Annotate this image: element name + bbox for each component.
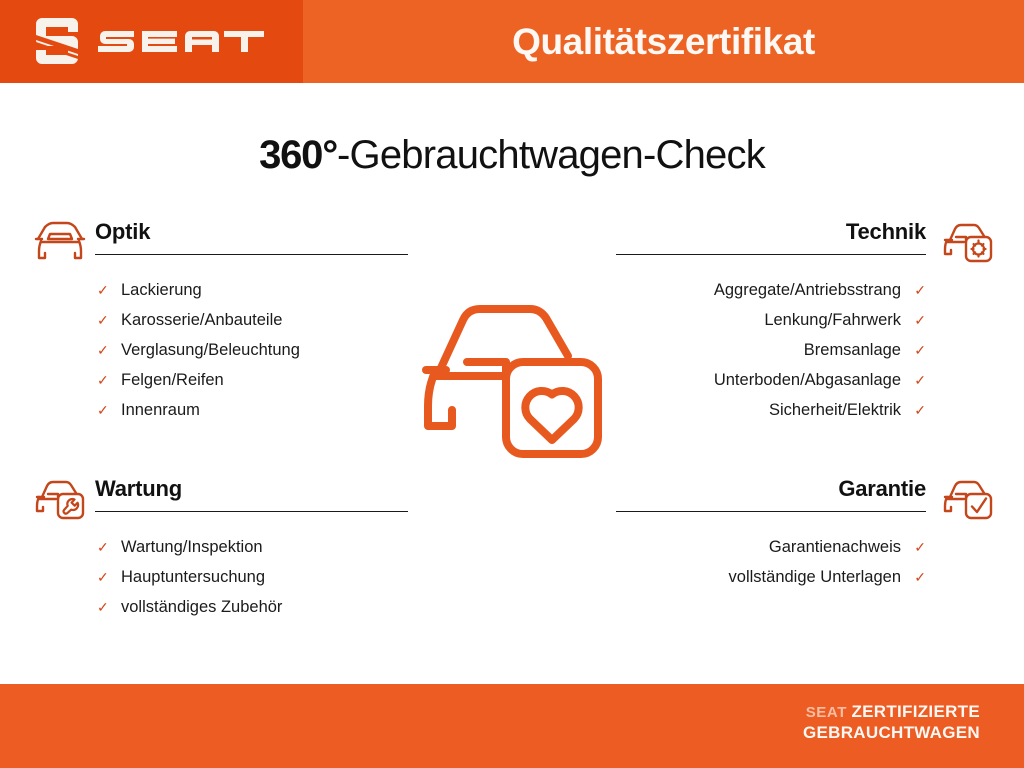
list-item: ✓Wartung/Inspektion (40, 532, 408, 562)
list-item: ✓Unterboden/Abgasanlage (616, 365, 984, 395)
list-item: ✓Garantienachweis (616, 532, 984, 562)
page-title: 360°-Gebrauchtwagen-Check (0, 133, 1024, 178)
seat-s-logo-icon (32, 15, 82, 67)
car-front-icon (32, 220, 88, 266)
list-item-label: Unterboden/Abgasanlage (714, 365, 901, 395)
check-icon: ✓ (97, 540, 113, 554)
check-icon: ✓ (910, 343, 926, 357)
car-gear-icon (940, 220, 996, 266)
list-item-label: Bremsanlage (804, 335, 901, 365)
list-item: ✓Bremsanlage (616, 335, 984, 365)
list-item-label: Hauptuntersuchung (121, 562, 265, 592)
section-wartung-header: Wartung (40, 475, 408, 525)
check-icon: ✓ (910, 313, 926, 327)
list-item: ✓Karosserie/Anbauteile (40, 305, 408, 335)
check-icon: ✓ (910, 373, 926, 387)
check-icon: ✓ (97, 313, 113, 327)
section-technik-list: ✓Aggregate/Antriebsstrang ✓Lenkung/Fahrw… (616, 275, 984, 425)
list-item-label: Verglasung/Beleuchtung (121, 335, 300, 365)
page-title-rest: -Gebrauchtwagen-Check (337, 133, 765, 177)
check-icon: ✓ (97, 343, 113, 357)
section-optik-rule (95, 254, 408, 255)
list-item: ✓Innenraum (40, 395, 408, 425)
section-garantie: Garantie ✓Garantienachweis ✓vollständige… (616, 475, 984, 592)
section-technik-rule (616, 254, 926, 255)
car-heart-icon (418, 298, 610, 470)
section-optik-title: Optik (95, 218, 150, 246)
section-optik: Optik ✓Lackierung ✓Karosserie/Anbauteile… (40, 218, 408, 425)
list-item: ✓Felgen/Reifen (40, 365, 408, 395)
footer-zertifizierte-label: ZERTIFIZIERTE (851, 702, 980, 721)
list-item-label: Felgen/Reifen (121, 365, 224, 395)
list-item-label: Lenkung/Fahrwerk (764, 305, 901, 335)
list-item-label: Lackierung (121, 275, 202, 305)
section-wartung-list: ✓Wartung/Inspektion ✓Hauptuntersuchung ✓… (40, 532, 408, 622)
section-wartung: Wartung ✓Wartung/Inspektion ✓Hauptunters… (40, 475, 408, 622)
section-technik-title: Technik (846, 218, 926, 246)
list-item: ✓Aggregate/Antriebsstrang (616, 275, 984, 305)
section-optik-list: ✓Lackierung ✓Karosserie/Anbauteile ✓Verg… (40, 275, 408, 425)
list-item-label: Garantienachweis (769, 532, 901, 562)
list-item: ✓Verglasung/Beleuchtung (40, 335, 408, 365)
check-icon: ✓ (97, 373, 113, 387)
qualitaetszertifikat-page: Qualitätszertifikat 360°-Gebrauchtwagen-… (0, 0, 1024, 768)
footer-gebrauchtwagen-label: GEBRAUCHTWAGEN (803, 723, 980, 743)
footer-brand-block: SEAT ZERTIFIZIERTE GEBRAUCHTWAGEN (803, 702, 980, 743)
seat-logo (32, 14, 266, 68)
list-item: ✓Lackierung (40, 275, 408, 305)
section-garantie-title: Garantie (838, 475, 926, 503)
list-item: ✓vollständiges Zubehör (40, 592, 408, 622)
check-icon: ✓ (910, 283, 926, 297)
page-footer: SEAT ZERTIFIZIERTE GEBRAUCHTWAGEN (0, 684, 1024, 768)
check-icon: ✓ (910, 570, 926, 584)
list-item: ✓vollständige Unterlagen (616, 562, 984, 592)
check-icon: ✓ (910, 540, 926, 554)
page-header: Qualitätszertifikat (0, 0, 1024, 83)
list-item-label: Innenraum (121, 395, 200, 425)
page-title-degree: 360° (259, 133, 337, 177)
footer-brand-line1: SEAT ZERTIFIZIERTE (803, 702, 980, 723)
list-item-label: Karosserie/Anbauteile (121, 305, 282, 335)
list-item: ✓Lenkung/Fahrwerk (616, 305, 984, 335)
list-item: ✓Sicherheit/Elektrik (616, 395, 984, 425)
section-wartung-rule (95, 511, 408, 512)
list-item-label: Aggregate/Antriebsstrang (714, 275, 901, 305)
list-item-label: vollständiges Zubehör (121, 592, 282, 622)
section-technik: Technik ✓Aggregate/Antriebsstrang ✓Lenku… (616, 218, 984, 425)
section-garantie-list: ✓Garantienachweis ✓vollständige Unterlag… (616, 532, 984, 592)
check-icon: ✓ (97, 570, 113, 584)
section-garantie-rule (616, 511, 926, 512)
footer-seat-label: SEAT (806, 704, 847, 721)
list-item: ✓Hauptuntersuchung (40, 562, 408, 592)
section-optik-header: Optik (40, 218, 408, 268)
section-garantie-header: Garantie (616, 475, 984, 525)
list-item-label: Sicherheit/Elektrik (769, 395, 901, 425)
section-wartung-title: Wartung (95, 475, 182, 503)
section-technik-header: Technik (616, 218, 984, 268)
car-check-icon (940, 477, 996, 523)
check-icon: ✓ (97, 600, 113, 614)
header-title: Qualitätszertifikat (303, 0, 1024, 83)
check-icon: ✓ (97, 283, 113, 297)
check-icon: ✓ (97, 403, 113, 417)
list-item-label: vollständige Unterlagen (729, 562, 901, 592)
seat-wordmark-icon (96, 25, 266, 57)
car-wrench-icon (32, 477, 88, 523)
list-item-label: Wartung/Inspektion (121, 532, 263, 562)
check-icon: ✓ (910, 403, 926, 417)
